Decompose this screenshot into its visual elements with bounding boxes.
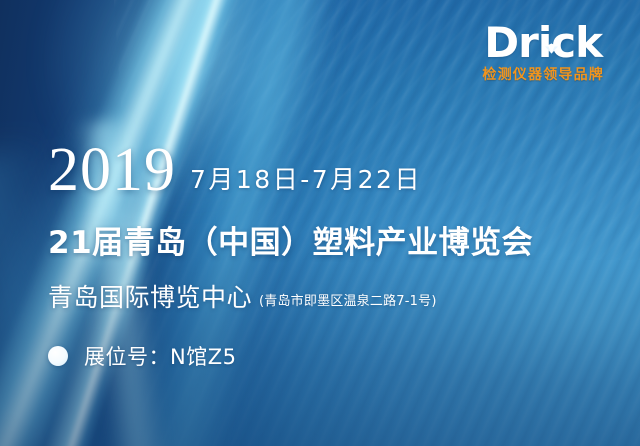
event-info-block: 2019 7月18日-7月22日 21届青岛（中国）塑料产业博览会 青岛国际博览… bbox=[48, 140, 608, 371]
diamond-icon bbox=[544, 19, 559, 30]
promo-banner: Drick 检测仪器领导品牌 2019 7月18日-7月22日 21届青岛（中国… bbox=[0, 0, 640, 446]
logo-wordmark: Drick bbox=[484, 22, 602, 64]
logo-tagline: 检测仪器领导品牌 bbox=[482, 68, 604, 82]
event-booth-number: 展位号：N馆Z5 bbox=[84, 341, 236, 371]
event-venue-name: 青岛国际博览中心 bbox=[48, 278, 252, 314]
logo-wordmark-text: Drick bbox=[484, 18, 602, 67]
event-booth-line: 展位号：N馆Z5 bbox=[48, 341, 608, 371]
event-date-range: 7月18日-7月22日 bbox=[190, 160, 422, 196]
event-year: 2019 bbox=[48, 140, 176, 201]
brand-logo: Drick 检测仪器领导品牌 bbox=[482, 22, 604, 82]
event-title: 21届青岛（中国）塑料产业博览会 bbox=[48, 217, 608, 262]
event-venue-address: (青岛市即墨区温泉二路7-1号) bbox=[259, 290, 437, 309]
circle-bullet-icon bbox=[48, 346, 68, 366]
event-date-line: 2019 7月18日-7月22日 bbox=[48, 140, 608, 201]
event-venue-line: 青岛国际博览中心 (青岛市即墨区温泉二路7-1号) bbox=[48, 278, 608, 314]
